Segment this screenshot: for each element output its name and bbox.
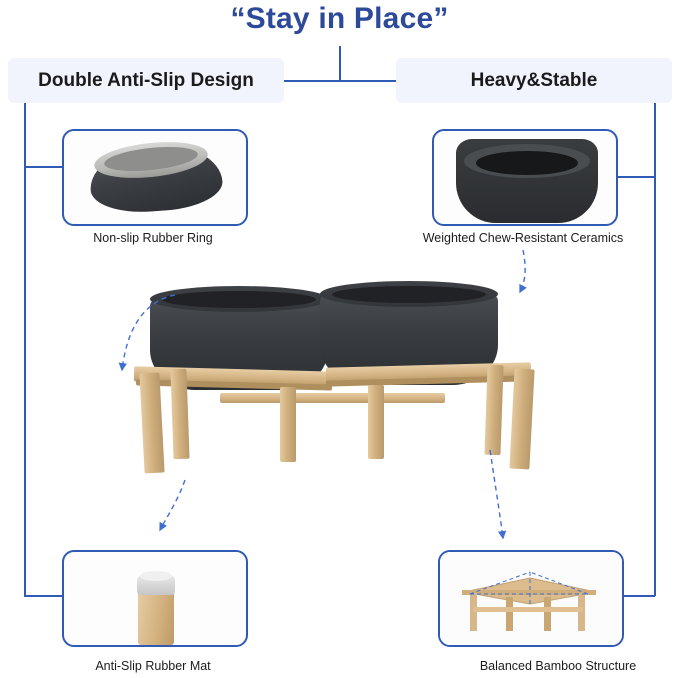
caption-balanced-bamboo-structure: Balanced Bamboo Structure [398,659,679,673]
connector-right-top-vertical [654,103,656,177]
callout-image-weighted-ceramics [432,129,618,226]
bowl-right-cavity [332,286,486,303]
stand-cross-brace [220,393,445,403]
callout-image-non-slip-rubber-ring [62,129,248,226]
bamboo-structure-diagram [440,552,618,641]
caption-non-slip-rubber-ring: Non-slip Rubber Ring [62,231,244,245]
connector-right-top-horizontal [612,176,655,178]
header-right: Heavy&Stable [396,58,672,103]
page-title: “Stay in Place” [0,2,679,36]
stand-leg-inner-left [280,387,296,462]
stand-leg-front-right [509,369,534,470]
header-left: Double Anti-Slip Design [8,58,284,103]
connector-left-bottom-horizontal [24,595,64,597]
callout-image-anti-slip-rubber-mat [62,550,248,647]
stand-leg-back-left [170,369,189,460]
product-feature-infographic: “Stay in Place” Double Anti-Slip Design … [0,0,679,678]
bowl-left-cavity [162,291,316,308]
bamboo-leg-shape [138,590,174,645]
connector-left-long-vertical [24,166,26,596]
rubber-mat-top-shape [140,571,172,581]
stand-leg-front-left [139,373,164,474]
connector-left-top-vertical [24,103,26,167]
connector-left-top-horizontal [24,166,64,168]
callout-image-balanced-bamboo-structure [438,550,624,647]
bowl-cavity-shape [476,151,578,175]
connector-title-vertical [339,46,341,82]
stand-leg-inner-right [368,385,384,459]
product-image [120,265,560,520]
stand-leg-back-right [484,365,503,456]
caption-anti-slip-rubber-mat: Anti-Slip Rubber Mat [62,659,244,673]
connector-header-horizontal [284,80,397,82]
caption-weighted-ceramics: Weighted Chew-Resistant Ceramics [323,231,679,245]
